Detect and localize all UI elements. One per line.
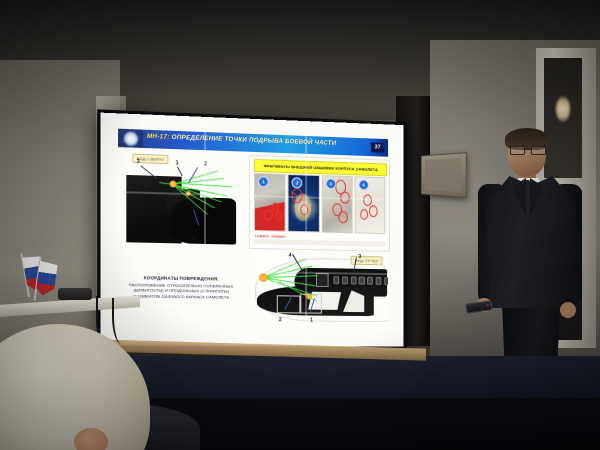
callout-number: 1: [310, 318, 313, 324]
callout-leader: [177, 167, 182, 176]
damage-marker-circle: [369, 205, 378, 217]
callout-number: 4: [289, 253, 292, 259]
remote-led-icon: [486, 304, 489, 307]
briefing-room-photo: МН-17: ОПРЕДЕЛЕНИЕ ТОЧКИ ПОДРЫВА БОЕВОЙ …: [0, 0, 600, 450]
window-row: [333, 276, 388, 284]
coordinates-heading: КООРДИНАТЫ ПОВРЕЖДЕНИЯ:: [128, 275, 234, 282]
slide-title-prefix: МН-17:: [147, 133, 170, 141]
coordinates-text-block: КООРДИНАТЫ ПОВРЕЖДЕНИЯ: РАСПОЛОЖЕНИЕ ОТН…: [128, 275, 234, 301]
fragment-photo[interactable]: 4: [354, 176, 385, 234]
detonation-burst-icon: [259, 273, 268, 282]
speaker-grille: [425, 158, 461, 192]
fragments-banner-text: ФРАГМЕНТЫ ВНЕШНЕЙ ОБШИВКИ КОРПУСА САМОЛЕ…: [264, 163, 378, 172]
coordinates-body: РАСПОЛОЖЕНИЕ ОТНОСИТЕЛЬНО ПОПЕРЕЧНЫХ (ШП…: [128, 282, 234, 301]
presenter-right-hand: [560, 302, 576, 318]
glasses-icon: [510, 146, 544, 153]
frame-reference-box: [277, 295, 301, 313]
callout-number: 2: [279, 317, 282, 323]
video-wall-seam: [305, 121, 307, 346]
cabin-window: [333, 276, 339, 284]
damage-marker-circle: [275, 211, 282, 220]
cabin-window: [384, 277, 388, 285]
glasses-bridge: [523, 149, 531, 150]
cable: [112, 298, 128, 344]
photo-panel-footer: [254, 239, 385, 247]
photo-number-badge: 2: [292, 177, 303, 188]
glasses-lens: [531, 146, 546, 155]
callout-number: 3: [137, 159, 140, 165]
top-view-panel: ВИД СВЕРХУ 3: [118, 150, 244, 247]
slide-number-badge: 37: [371, 142, 384, 152]
ceiling-light-icon: [556, 96, 570, 122]
glasses-lens: [510, 146, 525, 155]
slide-title: МН-17: ОПРЕДЕЛЕНИЕ ТОЧКИ ПОДРЫВА БОЕВОЙ …: [147, 133, 363, 148]
cabin-window: [350, 277, 356, 285]
presentation-slide: МН-17: ОПРЕДЕЛЕНИЕ ТОЧКИ ПОДРЫВА БОЕВОЙ …: [100, 113, 403, 347]
fragment-photo-row: 1 2 3: [254, 173, 385, 234]
cabin-window: [342, 276, 348, 284]
fragment-photo[interactable]: 1: [254, 173, 286, 232]
photo-number-badge: 3: [325, 178, 336, 189]
damage-marker-circle: [264, 209, 273, 220]
floor: [140, 398, 600, 450]
gear-emblem-glyph: [124, 131, 137, 145]
video-wall-display[interactable]: МН-17: ОПРЕДЕЛЕНИЕ ТОЧКИ ПОДРЫВА БОЕВОЙ …: [100, 113, 403, 347]
fragment-photo[interactable]: 3: [321, 175, 352, 233]
video-wall-seam: [204, 117, 206, 346]
fragment-photo[interactable]: 2: [288, 174, 320, 232]
cabin-window: [367, 277, 373, 285]
gear-emblem-icon: [118, 129, 143, 148]
photo-number-badge: 1: [258, 176, 269, 187]
detonation-burst-icon: [169, 180, 176, 187]
photo-number-badge: 4: [358, 179, 369, 190]
presentation-remote[interactable]: [465, 300, 492, 314]
callout-number: 1: [176, 160, 179, 166]
cabin-window: [376, 277, 382, 285]
damage-marker-circle: [360, 209, 368, 219]
audience-ear: [74, 428, 108, 450]
microphone-base: [58, 288, 92, 300]
callout-number: 4: [192, 236, 195, 242]
photo-note: Подпись: обшивка: [255, 234, 285, 239]
side-view-panel: ВИД СБОКУ: [249, 251, 388, 330]
damage-marker-circle: [339, 211, 348, 223]
wall-speaker-icon: [421, 152, 467, 198]
cabin-window: [359, 277, 365, 285]
callout-number: 3: [358, 254, 361, 260]
slide-title-text: ОПРЕДЕЛЕНИЕ ТОЧКИ ПОДРЫВА БОЕВОЙ ЧАСТИ: [172, 134, 337, 147]
fragments-photo-panel: ФРАГМЕНТЫ ВНЕШНЕЙ ОБШИВКИ КОРПУСА САМОЛЕ…: [249, 155, 390, 252]
coordinates-panel: КООРДИНАТЫ ПОВРЕЖДЕНИЯ: РАСПОЛОЖЕНИЕ ОТН…: [118, 248, 244, 329]
